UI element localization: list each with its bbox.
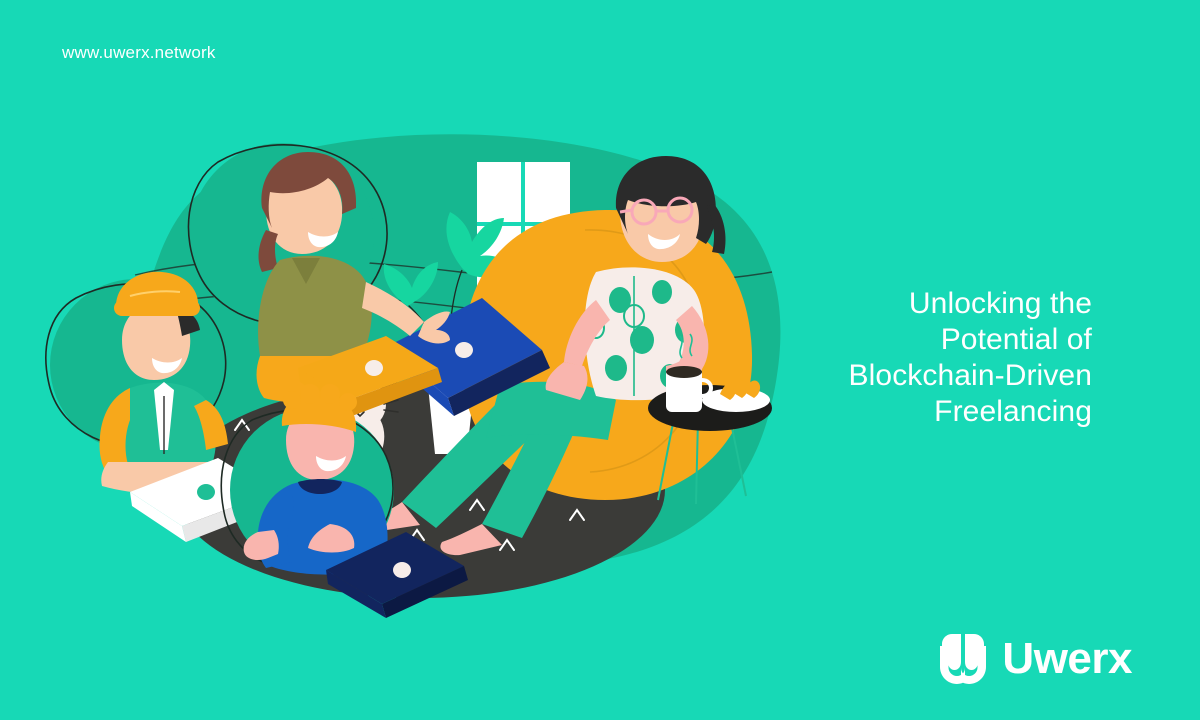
page-title: Unlocking the Potential of Blockchain-Dr… xyxy=(672,286,1092,430)
headline-line-3: Blockchain-Driven xyxy=(672,358,1092,394)
promo-banner: www.uwerx.network xyxy=(0,0,1200,720)
logo-wordmark: Uwerx xyxy=(1002,637,1132,681)
brand-logo: Uwerx xyxy=(940,634,1132,684)
headline-line-1: Unlocking the xyxy=(672,286,1092,322)
site-url-label: www.uwerx.network xyxy=(62,43,216,63)
headline-line-4: Freelancing xyxy=(672,394,1092,430)
headline-line-2: Potential of xyxy=(672,322,1092,358)
uwerx-monogram-icon xyxy=(940,634,986,684)
